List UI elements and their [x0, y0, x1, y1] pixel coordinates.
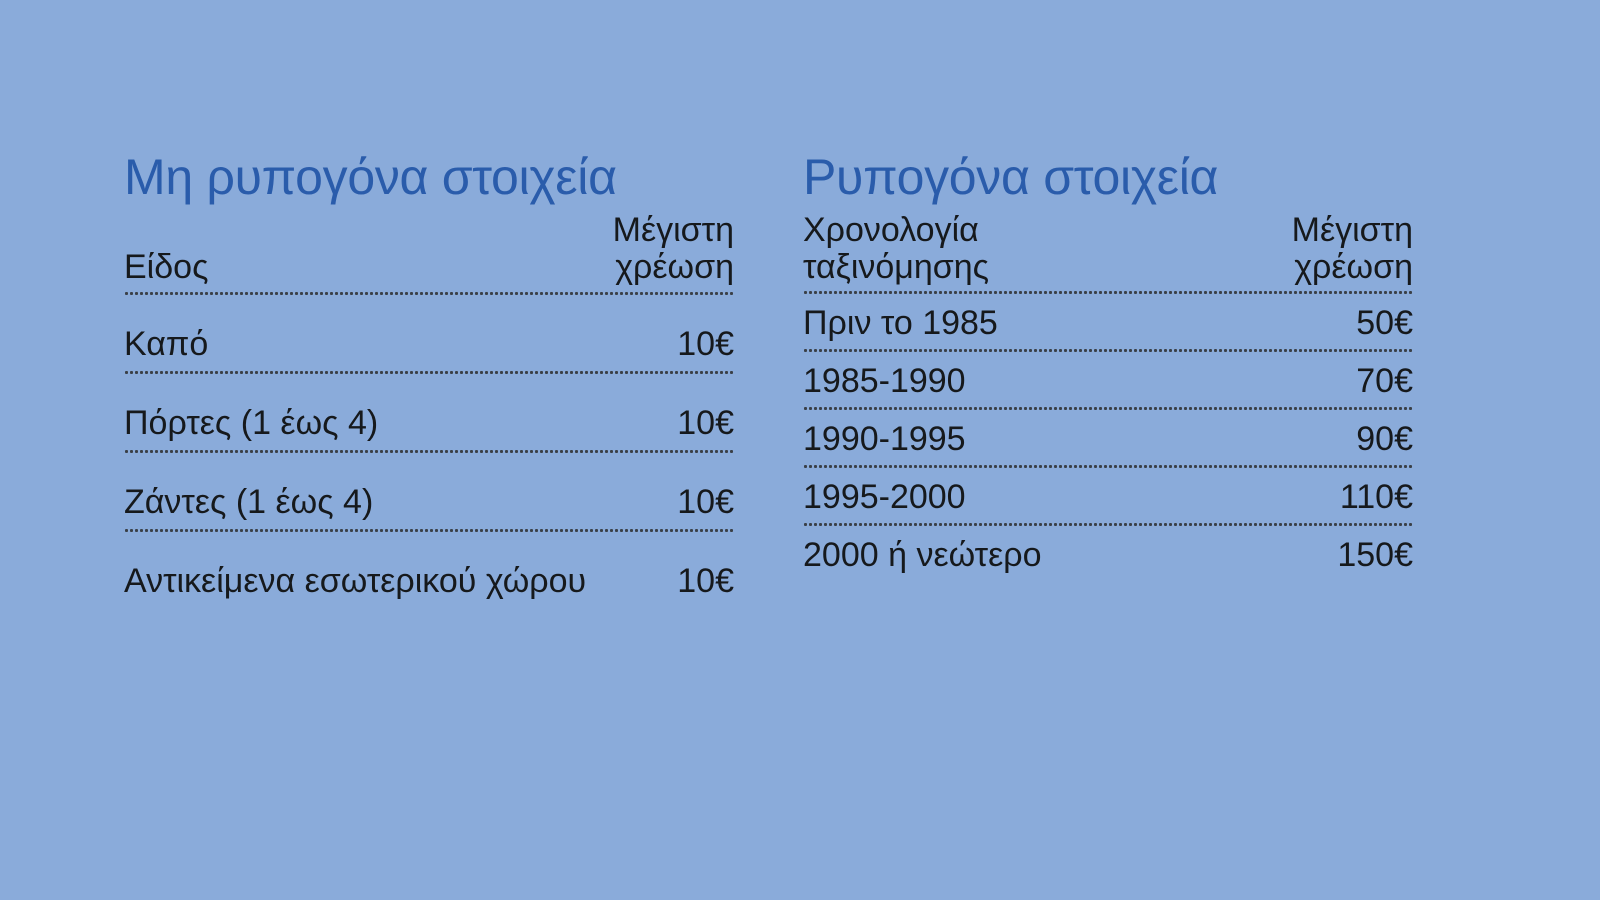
non-polluting-price-table: Είδος Μέγιστη χρέωση Καπό 10€ Πόρτες	[124, 212, 734, 608]
row-label: Καπό	[124, 295, 586, 371]
column-header-max-charge: Μέγιστη χρέωση	[586, 212, 734, 292]
row-price: 50€	[1207, 294, 1413, 349]
table-row: Αντικείμενα εσωτερικού χώρου 10€	[124, 532, 734, 608]
table-row: Καπό 10€	[124, 295, 734, 371]
table-polluting: Ρυπογόνα στοιχεία Χρονολογία ταξινόμησης…	[803, 152, 1413, 581]
table-row: Πόρτες (1 έως 4) 10€	[124, 374, 734, 450]
row-price: 70€	[1207, 352, 1413, 407]
table-row: Πριν το 1985 50€	[803, 294, 1413, 349]
row-label: Αντικείμενα εσωτερικού χώρου	[124, 532, 586, 608]
row-price: 150€	[1207, 526, 1413, 581]
column-header-max-charge: Μέγιστη χρέωση	[1207, 212, 1413, 291]
table-row: 1990-1995 90€	[803, 410, 1413, 465]
row-label: Ζάντες (1 έως 4)	[124, 453, 586, 529]
table-non-polluting-title: Μη ρυπογόνα στοιχεία	[124, 152, 734, 202]
row-price: 10€	[586, 295, 734, 371]
slide-canvas: Μη ρυπογόνα στοιχεία Είδος Μέγιστη χρέωσ…	[0, 0, 1600, 900]
row-label: Πριν το 1985	[803, 294, 1207, 349]
row-price: 10€	[586, 453, 734, 529]
table-row: Ζάντες (1 έως 4) 10€	[124, 453, 734, 529]
tables-container: Μη ρυπογόνα στοιχεία Είδος Μέγιστη χρέωσ…	[0, 0, 1600, 900]
column-header-registration-year: Χρονολογία ταξινόμησης	[803, 212, 1207, 291]
table-non-polluting: Μη ρυπογόνα στοιχεία Είδος Μέγιστη χρέωσ…	[124, 152, 734, 608]
row-label: 1985-1990	[803, 352, 1207, 407]
table-polluting-title: Ρυπογόνα στοιχεία	[803, 152, 1413, 202]
table-row: 2000 ή νεώτερο 150€	[803, 526, 1413, 581]
table-row: 1985-1990 70€	[803, 352, 1413, 407]
row-price: 90€	[1207, 410, 1413, 465]
table-row: 1995-2000 110€	[803, 468, 1413, 523]
table-header-row: Χρονολογία ταξινόμησης Μέγιστη χρέωση	[803, 212, 1413, 291]
row-price: 10€	[586, 374, 734, 450]
column-header-item: Είδος	[124, 212, 586, 292]
table-header-row: Είδος Μέγιστη χρέωση	[124, 212, 734, 292]
row-price: 10€	[586, 532, 734, 608]
row-label: Πόρτες (1 έως 4)	[124, 374, 586, 450]
polluting-price-table: Χρονολογία ταξινόμησης Μέγιστη χρέωση Πρ…	[803, 212, 1413, 581]
row-label: 1990-1995	[803, 410, 1207, 465]
row-label: 2000 ή νεώτερο	[803, 526, 1207, 581]
row-label: 1995-2000	[803, 468, 1207, 523]
row-price: 110€	[1207, 468, 1413, 523]
